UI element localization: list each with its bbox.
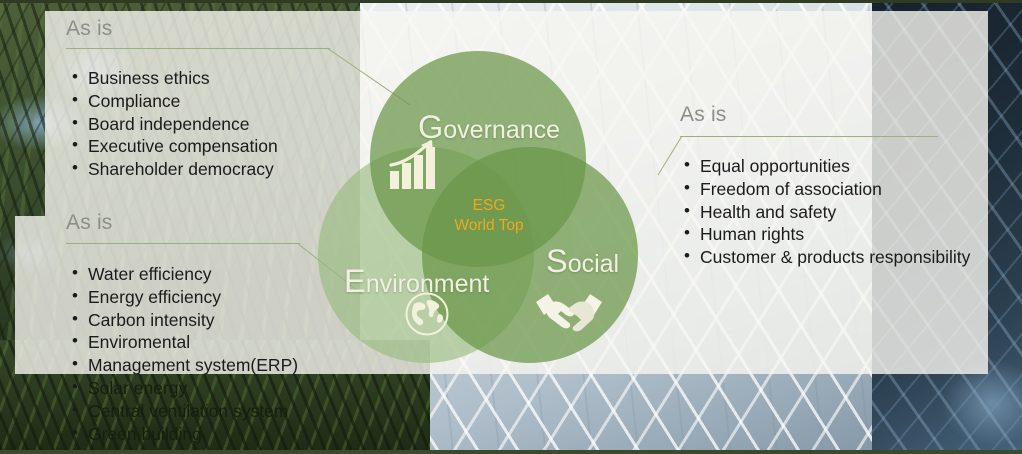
center-line-1: ESG (414, 196, 564, 216)
environment-list: Water efficiency Energy efficiency Carbo… (72, 263, 298, 445)
globe-icon (404, 291, 450, 337)
social-rule (680, 136, 938, 137)
governance-heading: As is (66, 17, 113, 41)
esg-slide: As is Business ethics Compliance Board i… (0, 0, 1022, 454)
list-item: Equal opportunities (684, 155, 970, 178)
list-item: Central ventilation system (72, 400, 298, 423)
circle-label-social: Social (546, 243, 619, 280)
list-item: Human rights (684, 223, 970, 246)
environment-column: As is (66, 211, 113, 235)
handshake-icon (534, 286, 604, 338)
venn-center-text: ESG World Top (414, 196, 564, 236)
social-label-rest: ocial (568, 250, 619, 278)
list-item: Carbon intensity (72, 309, 298, 332)
environment-rule (66, 243, 300, 244)
social-heading: As is (680, 103, 727, 127)
center-line-2: World Top (414, 216, 564, 236)
social-connector-line (656, 133, 686, 177)
list-item: Solar energy (72, 377, 298, 400)
list-item: Compliance (72, 90, 278, 113)
list-item: Customer & products responsibility (684, 246, 970, 269)
list-item: Green building (72, 423, 298, 446)
list-item: Energy efficiency (72, 286, 298, 309)
environment-initial: E (344, 263, 366, 299)
list-item: Water efficiency (72, 263, 298, 286)
list-item: Board independence (72, 113, 278, 136)
list-item: Executive compensation (72, 135, 278, 158)
social-column: As is (680, 103, 727, 127)
list-item: Freedom of association (684, 178, 970, 201)
list-item: Enviromental (72, 331, 298, 354)
venn-diagram: Governance Environment Social ESG (318, 51, 658, 371)
environment-heading: As is (66, 211, 113, 235)
governance-rule (66, 48, 330, 49)
governance-label-rest: overnance (443, 116, 560, 144)
governance-list: Business ethics Compliance Board indepen… (72, 67, 278, 181)
social-initial: S (546, 243, 568, 279)
bar-chart-growth-icon (388, 137, 440, 191)
list-item: Health and safety (684, 201, 970, 224)
governance-column: As is (66, 17, 113, 41)
list-item: Business ethics (72, 67, 278, 90)
social-list: Equal opportunities Freedom of associati… (684, 155, 970, 269)
list-item: Shareholder democracy (72, 158, 278, 181)
list-item: Management system(ERP) (72, 354, 298, 377)
